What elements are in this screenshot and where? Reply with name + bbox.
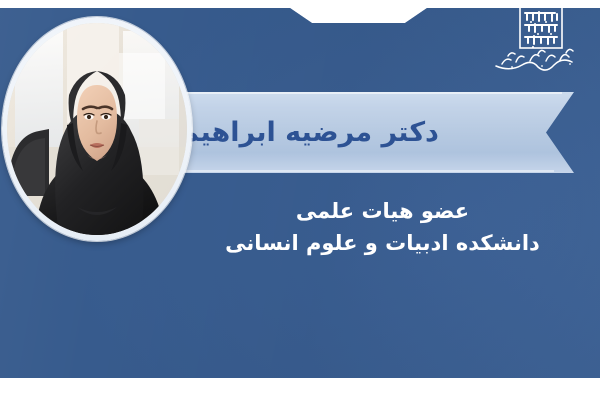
person-role: عضو هیات علمی	[190, 196, 575, 226]
subtitle-block: عضو هیات علمی دانشکده ادبیات و علوم انسا…	[190, 196, 575, 259]
avatar	[7, 23, 187, 235]
avatar-ring	[2, 17, 192, 241]
profile-banner-card: دکتر مرضیه ابراهیمی عضو هیات علمی دانشکد…	[0, 0, 600, 400]
shahid-beheshti-university-logo-icon	[490, 4, 586, 76]
person-department: دانشکده ادبیات و علوم انسانی	[190, 228, 575, 258]
